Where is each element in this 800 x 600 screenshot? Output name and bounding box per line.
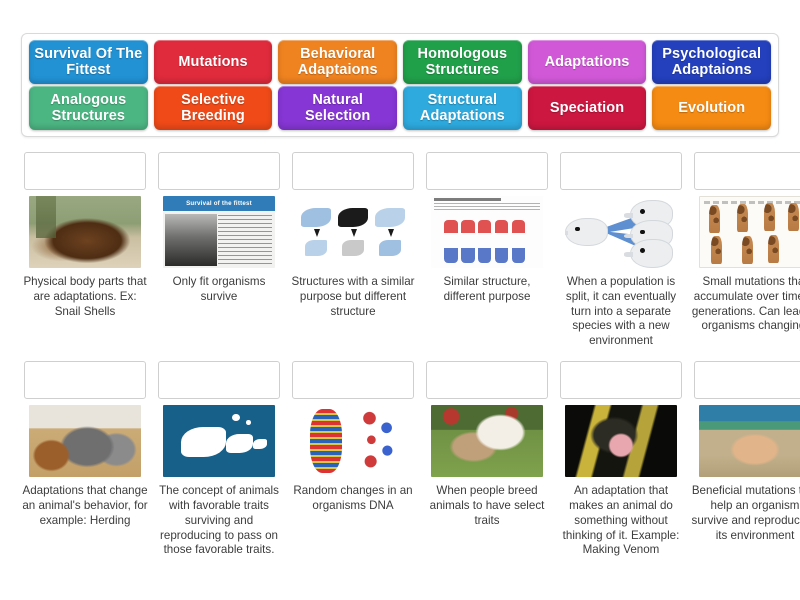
dropzone-12[interactable] <box>694 361 800 399</box>
answer-image: Survival of the fittest <box>158 196 280 268</box>
survival-of-the-fittest-darwin-slide: Survival of the fittest <box>163 196 275 268</box>
answer-cell: The concept of animals with favorable tr… <box>155 361 283 558</box>
answer-grid: Physical body parts that are adaptations… <box>21 152 779 566</box>
answer-image <box>426 405 548 477</box>
dropzone-10[interactable] <box>426 361 548 399</box>
answer-image <box>694 405 800 477</box>
tile-row-2: Analogous Structures Selective Breeding … <box>29 86 771 130</box>
starfish-reef-photo <box>699 405 800 477</box>
answer-caption: Similar structure, different purpose <box>423 275 551 305</box>
answer-image <box>560 196 682 268</box>
answer-image <box>560 405 682 477</box>
bulldog-puppy-photo <box>431 405 543 477</box>
answer-image <box>158 405 280 477</box>
tile-natural-selection[interactable]: Natural Selection <box>278 86 397 130</box>
dna-illustration <box>297 405 409 477</box>
answer-cell: Adaptations that change an animal's beha… <box>21 361 149 558</box>
activity-stage: Survival Of The Fittest Mutations Behavi… <box>0 0 800 600</box>
answer-caption: An adaptation that makes an animal do so… <box>557 484 685 558</box>
answer-image <box>292 405 414 477</box>
answer-caption: Physical body parts that are adaptations… <box>21 275 149 319</box>
tile-selective-breeding[interactable]: Selective Breeding <box>154 86 273 130</box>
answer-caption: Small mutations that accumulate over tim… <box>691 275 800 334</box>
answer-caption: Random changes in an organisms DNA <box>289 484 417 514</box>
answer-cell: When people breed animals to have select… <box>423 361 551 558</box>
answer-image <box>694 196 800 268</box>
tile-evolution[interactable]: Evolution <box>652 86 771 130</box>
turtle-photo <box>29 196 141 268</box>
tile-bank: Survival Of The Fittest Mutations Behavi… <box>21 33 779 137</box>
tile-speciation[interactable]: Speciation <box>528 86 647 130</box>
dropzone-7[interactable] <box>24 361 146 399</box>
answer-cell: Structures with a similar purpose but di… <box>289 152 417 349</box>
snake-photo <box>565 405 677 477</box>
answer-row-2: Adaptations that change an animal's beha… <box>21 361 779 558</box>
tile-mutations[interactable]: Mutations <box>154 40 273 84</box>
answer-image <box>24 196 146 268</box>
dropzone-2[interactable] <box>158 152 280 190</box>
answer-cell: Similar structure, different purpose <box>423 152 551 349</box>
tile-survival-of-the-fittest[interactable]: Survival Of The Fittest <box>29 40 148 84</box>
dropzone-9[interactable] <box>292 361 414 399</box>
answer-cell: Survival of the fittest Only fit organis… <box>155 152 283 349</box>
giraffe-evolution-chart <box>699 196 800 268</box>
dropzone-4[interactable] <box>426 152 548 190</box>
tile-psychological-adaptaions[interactable]: Psychological Adaptaions <box>652 40 771 84</box>
dropzone-6[interactable] <box>694 152 800 190</box>
dropzone-8[interactable] <box>158 361 280 399</box>
tile-row-1: Survival Of The Fittest Mutations Behavi… <box>29 40 771 84</box>
homologous-structures-chart <box>431 196 543 268</box>
answer-image <box>426 196 548 268</box>
darwin-portrait <box>165 214 217 266</box>
slide-title-bar: Survival of the fittest <box>163 196 275 211</box>
answer-cell: When a population is split, it can event… <box>557 152 685 349</box>
answer-row-1: Physical body parts that are adaptations… <box>21 152 779 349</box>
tile-homologous-structures[interactable]: Homologous Structures <box>403 40 522 84</box>
answer-cell: An adaptation that makes an animal do so… <box>557 361 685 558</box>
shark-column <box>299 202 333 264</box>
slide-body-text <box>218 215 272 264</box>
answer-caption: When a population is split, it can event… <box>557 275 685 349</box>
answer-caption: Structures with a similar purpose but di… <box>289 275 417 319</box>
tile-adaptations[interactable]: Adaptations <box>528 40 647 84</box>
answer-image <box>24 405 146 477</box>
answer-caption: When people breed animals to have select… <box>423 484 551 528</box>
answer-caption: Adaptations that change an animal's beha… <box>21 484 149 528</box>
answer-caption: Only fit organisms survive <box>155 275 283 305</box>
natural-selection-fish-icon <box>163 405 275 477</box>
answer-cell: Beneficial mutations that help an organi… <box>691 361 800 558</box>
bird-column <box>336 202 370 264</box>
answer-cell: Physical body parts that are adaptations… <box>21 152 149 349</box>
dropzone-11[interactable] <box>560 361 682 399</box>
dolphin-column <box>373 202 407 264</box>
answer-caption: The concept of animals with favorable tr… <box>155 484 283 558</box>
tile-structural-adaptations[interactable]: Structural Adaptations <box>403 86 522 130</box>
elephant-herd-photo <box>29 405 141 477</box>
answer-cell: Small mutations that accumulate over tim… <box>691 152 800 349</box>
tile-behavioral-adaptaions[interactable]: Behavioral Adaptaions <box>278 40 397 84</box>
answer-image <box>292 196 414 268</box>
dropzone-5[interactable] <box>560 152 682 190</box>
dropzone-1[interactable] <box>24 152 146 190</box>
analogous-structures-diagram <box>297 196 409 268</box>
dropzone-3[interactable] <box>292 152 414 190</box>
answer-caption: Beneficial mutations that help an organi… <box>691 484 800 543</box>
slide-title: Survival of the fittest <box>163 196 275 211</box>
tile-analogous-structures[interactable]: Analogous Structures <box>29 86 148 130</box>
answer-cell: Random changes in an organisms DNA <box>289 361 417 558</box>
speciation-birds-diagram <box>565 196 677 268</box>
